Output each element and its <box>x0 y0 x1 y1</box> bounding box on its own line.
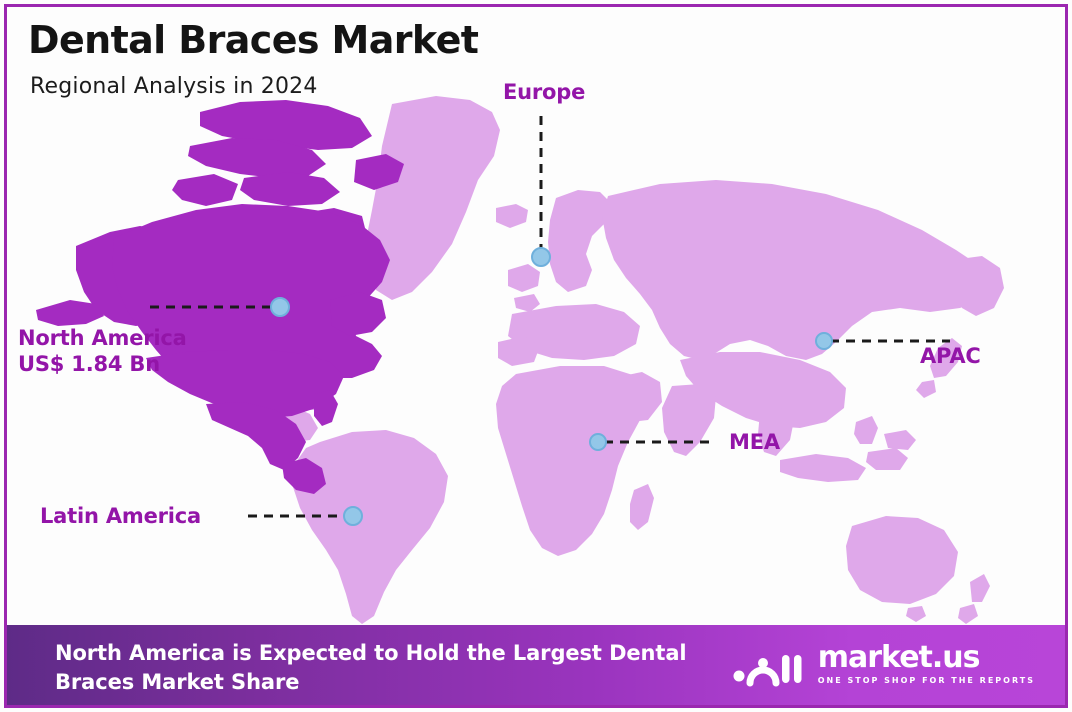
logo-wordmark: market.us <box>818 643 1035 673</box>
region-label-latin-america: Latin America <box>40 504 201 528</box>
region-label-europe: Europe <box>503 80 585 104</box>
logo-text: market.us ONE STOP SHOP FOR THE REPORTS <box>818 643 1035 687</box>
bottom-banner: North America is Expected to Hold the La… <box>7 625 1065 705</box>
market-us-logo-icon <box>733 643 807 687</box>
region-label-mea: MEA <box>729 430 780 454</box>
banner-headline: North America is Expected to Hold the La… <box>55 639 755 697</box>
page-subtitle: Regional Analysis in 2024 <box>30 74 318 99</box>
market-us-logo[interactable]: market.us ONE STOP SHOP FOR THE REPORTS <box>733 643 1035 687</box>
region-name-north-america: North America <box>18 325 187 351</box>
region-label-apac: APAC <box>920 344 981 368</box>
page-title: Dental Braces Market <box>28 18 478 62</box>
logo-tagline: ONE STOP SHOP FOR THE REPORTS <box>818 675 1035 687</box>
region-value-north-america: US$ 1.84 Bn <box>18 351 187 377</box>
region-label-north-america: North America US$ 1.84 Bn <box>18 325 187 377</box>
infographic-root: Dental Braces Market Regional Analysis i… <box>0 0 1072 712</box>
